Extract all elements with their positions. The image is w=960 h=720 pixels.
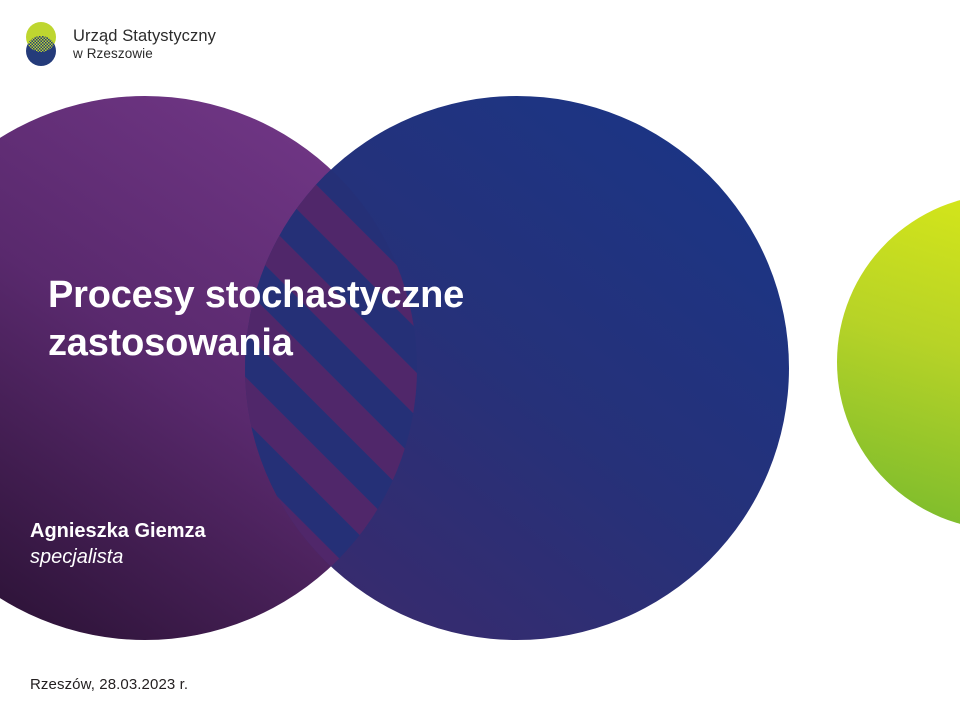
slide-title: Procesy stochastyczne zastosowania: [48, 272, 608, 368]
slide-footer-place-date: Rzeszów, 28.03.2023 r.: [30, 676, 188, 693]
organization-logo: Urząd Statystyczny w Rzeszowie: [18, 18, 216, 70]
logo-wordmark: Urząd Statystyczny w Rzeszowie: [73, 27, 216, 61]
logo-line-2: w Rzeszowie: [73, 46, 216, 61]
author-block: Agnieszka Giemza specjalista: [30, 518, 450, 570]
author-role: specjalista: [30, 544, 450, 570]
author-name: Agnieszka Giemza: [30, 518, 450, 544]
green-circle: [837, 194, 960, 530]
us-rzeszow-logo-icon: [18, 18, 64, 70]
title-block: Procesy stochastyczne zastosowania: [48, 272, 608, 368]
presentation-title-slide: Urząd Statystyczny w Rzeszowie Procesy s…: [0, 0, 960, 720]
logo-line-1: Urząd Statystyczny: [73, 27, 216, 45]
